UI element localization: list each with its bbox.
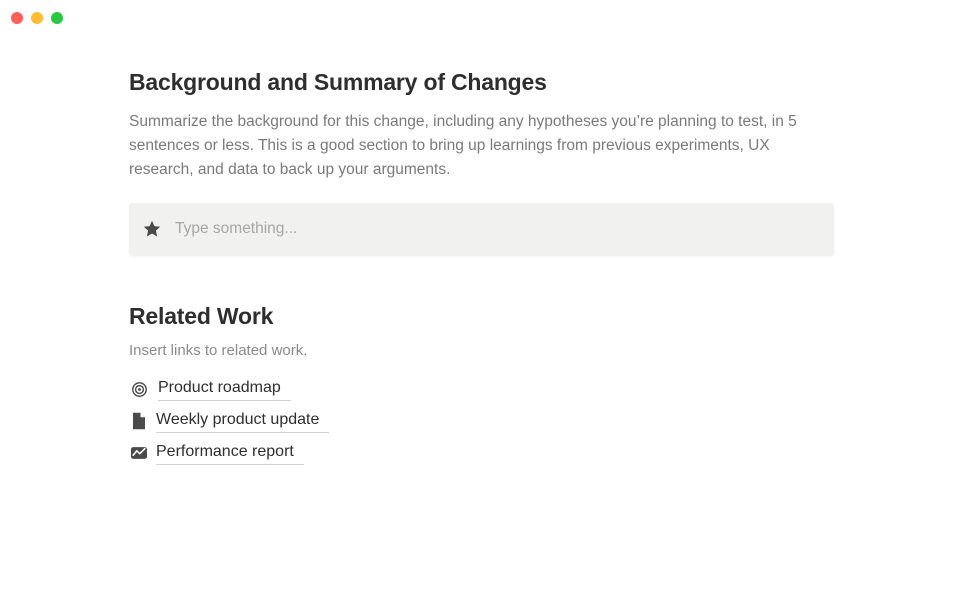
- related-link-label[interactable]: Weekly product update: [156, 410, 329, 433]
- line-chart-icon: [129, 443, 149, 463]
- related-work-section-heading: Related Work: [129, 303, 834, 331]
- target-icon: [129, 379, 149, 399]
- window-titlebar: [0, 0, 960, 36]
- related-link-performance-report[interactable]: Performance report: [129, 437, 304, 469]
- related-link-label[interactable]: Performance report: [156, 442, 304, 465]
- maximize-window-button[interactable]: [51, 12, 63, 24]
- background-section-paragraph: Summarize the background for this change…: [129, 110, 829, 182]
- close-window-button[interactable]: [11, 12, 23, 24]
- minimize-window-button[interactable]: [31, 12, 43, 24]
- document-icon: [129, 411, 149, 431]
- content-column: Background and Summary of Changes Summar…: [129, 36, 834, 469]
- star-icon: [141, 218, 163, 240]
- document-body: Background and Summary of Changes Summar…: [0, 36, 960, 600]
- related-link-label[interactable]: Product roadmap: [158, 378, 291, 401]
- app-window: Background and Summary of Changes Summar…: [0, 0, 960, 600]
- related-link-product-roadmap[interactable]: Product roadmap: [129, 373, 291, 405]
- background-input-field[interactable]: [129, 203, 834, 256]
- related-work-link-list: Product roadmap Weekly product update: [129, 373, 834, 469]
- background-section-heading: Background and Summary of Changes: [129, 69, 834, 97]
- related-work-subtext: Insert links to related work.: [129, 341, 834, 361]
- background-text-input[interactable]: [175, 220, 795, 238]
- traffic-light-group: [0, 12, 63, 24]
- related-link-weekly-product-update[interactable]: Weekly product update: [129, 405, 329, 437]
